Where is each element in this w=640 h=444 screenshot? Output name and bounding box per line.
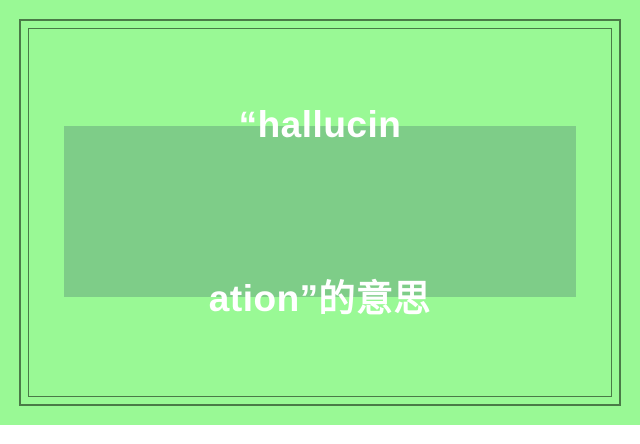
content-panel: “hallucin ation”的意思: [64, 126, 576, 297]
headline-line-2: ation”的意思: [209, 270, 431, 328]
headline-text: “hallucin ation”的意思: [209, 0, 431, 444]
headline-line-1: “hallucin: [209, 96, 431, 154]
poster-canvas: “hallucin ation”的意思: [0, 0, 640, 425]
